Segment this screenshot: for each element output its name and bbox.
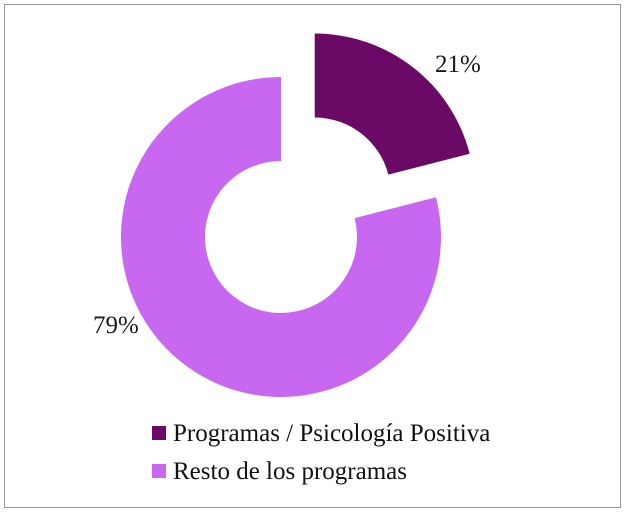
data-label-dark-slice: 21%: [435, 52, 481, 77]
legend-item-programas[interactable]: Programas / Psicología Positiva: [152, 414, 572, 452]
donut-slices: [121, 34, 470, 397]
legend-label-programas: Programas / Psicología Positiva: [173, 421, 490, 446]
data-label-light-slice: 79%: [93, 313, 139, 338]
chart-container: 21% 79% Programas / Psicología Positiva …: [0, 0, 625, 514]
legend-swatch-light: [152, 464, 166, 478]
legend-label-resto: Resto de los programas: [173, 459, 407, 484]
legend-item-resto[interactable]: Resto de los programas: [152, 452, 572, 490]
chart-legend: Programas / Psicología Positiva Resto de…: [152, 414, 572, 490]
legend-swatch-dark: [152, 426, 166, 440]
